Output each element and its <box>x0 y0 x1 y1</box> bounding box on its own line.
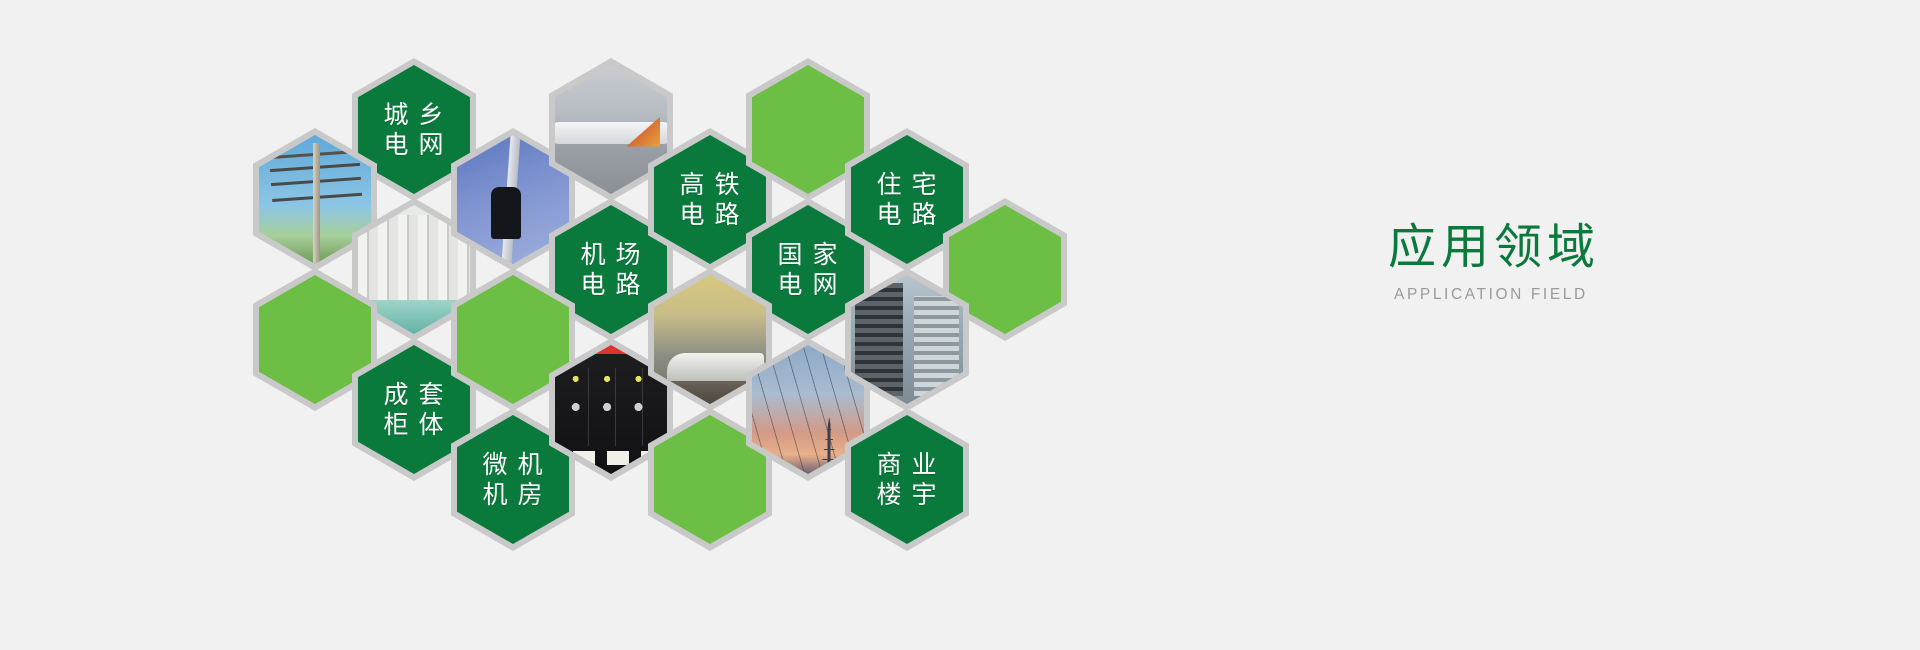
hexagon-banner: 城 乡 电 网机 场 电 路高 铁 电 路国 家 电 网住 宅 电 路成 套 柜… <box>0 0 1920 650</box>
hexagon-label: 高 铁 电 路 <box>680 170 741 229</box>
page-title: 应用领域 <box>1388 222 1808 272</box>
hexagon-face: 商 业 楼 宇 <box>851 415 963 544</box>
hexagon-label: 住 宅 电 路 <box>877 170 938 229</box>
title-block: 应用领域 APPLICATION FIELD <box>1388 222 1808 304</box>
hexagon-label: 国 家 电 网 <box>778 240 839 299</box>
hexagon-label: 城 乡 电 网 <box>384 100 445 159</box>
hexagon-label: 商 业 楼 宇 <box>877 450 938 509</box>
residential-tower-block-image <box>851 275 963 404</box>
hexagon-label: 机 场 电 路 <box>581 240 642 299</box>
hexagon-label: 微 机 机 房 <box>483 450 544 509</box>
hexagon-face <box>851 275 963 404</box>
hexagon-label: 成 套 柜 体 <box>384 380 445 439</box>
page-subtitle: APPLICATION FIELD <box>1394 286 1808 304</box>
